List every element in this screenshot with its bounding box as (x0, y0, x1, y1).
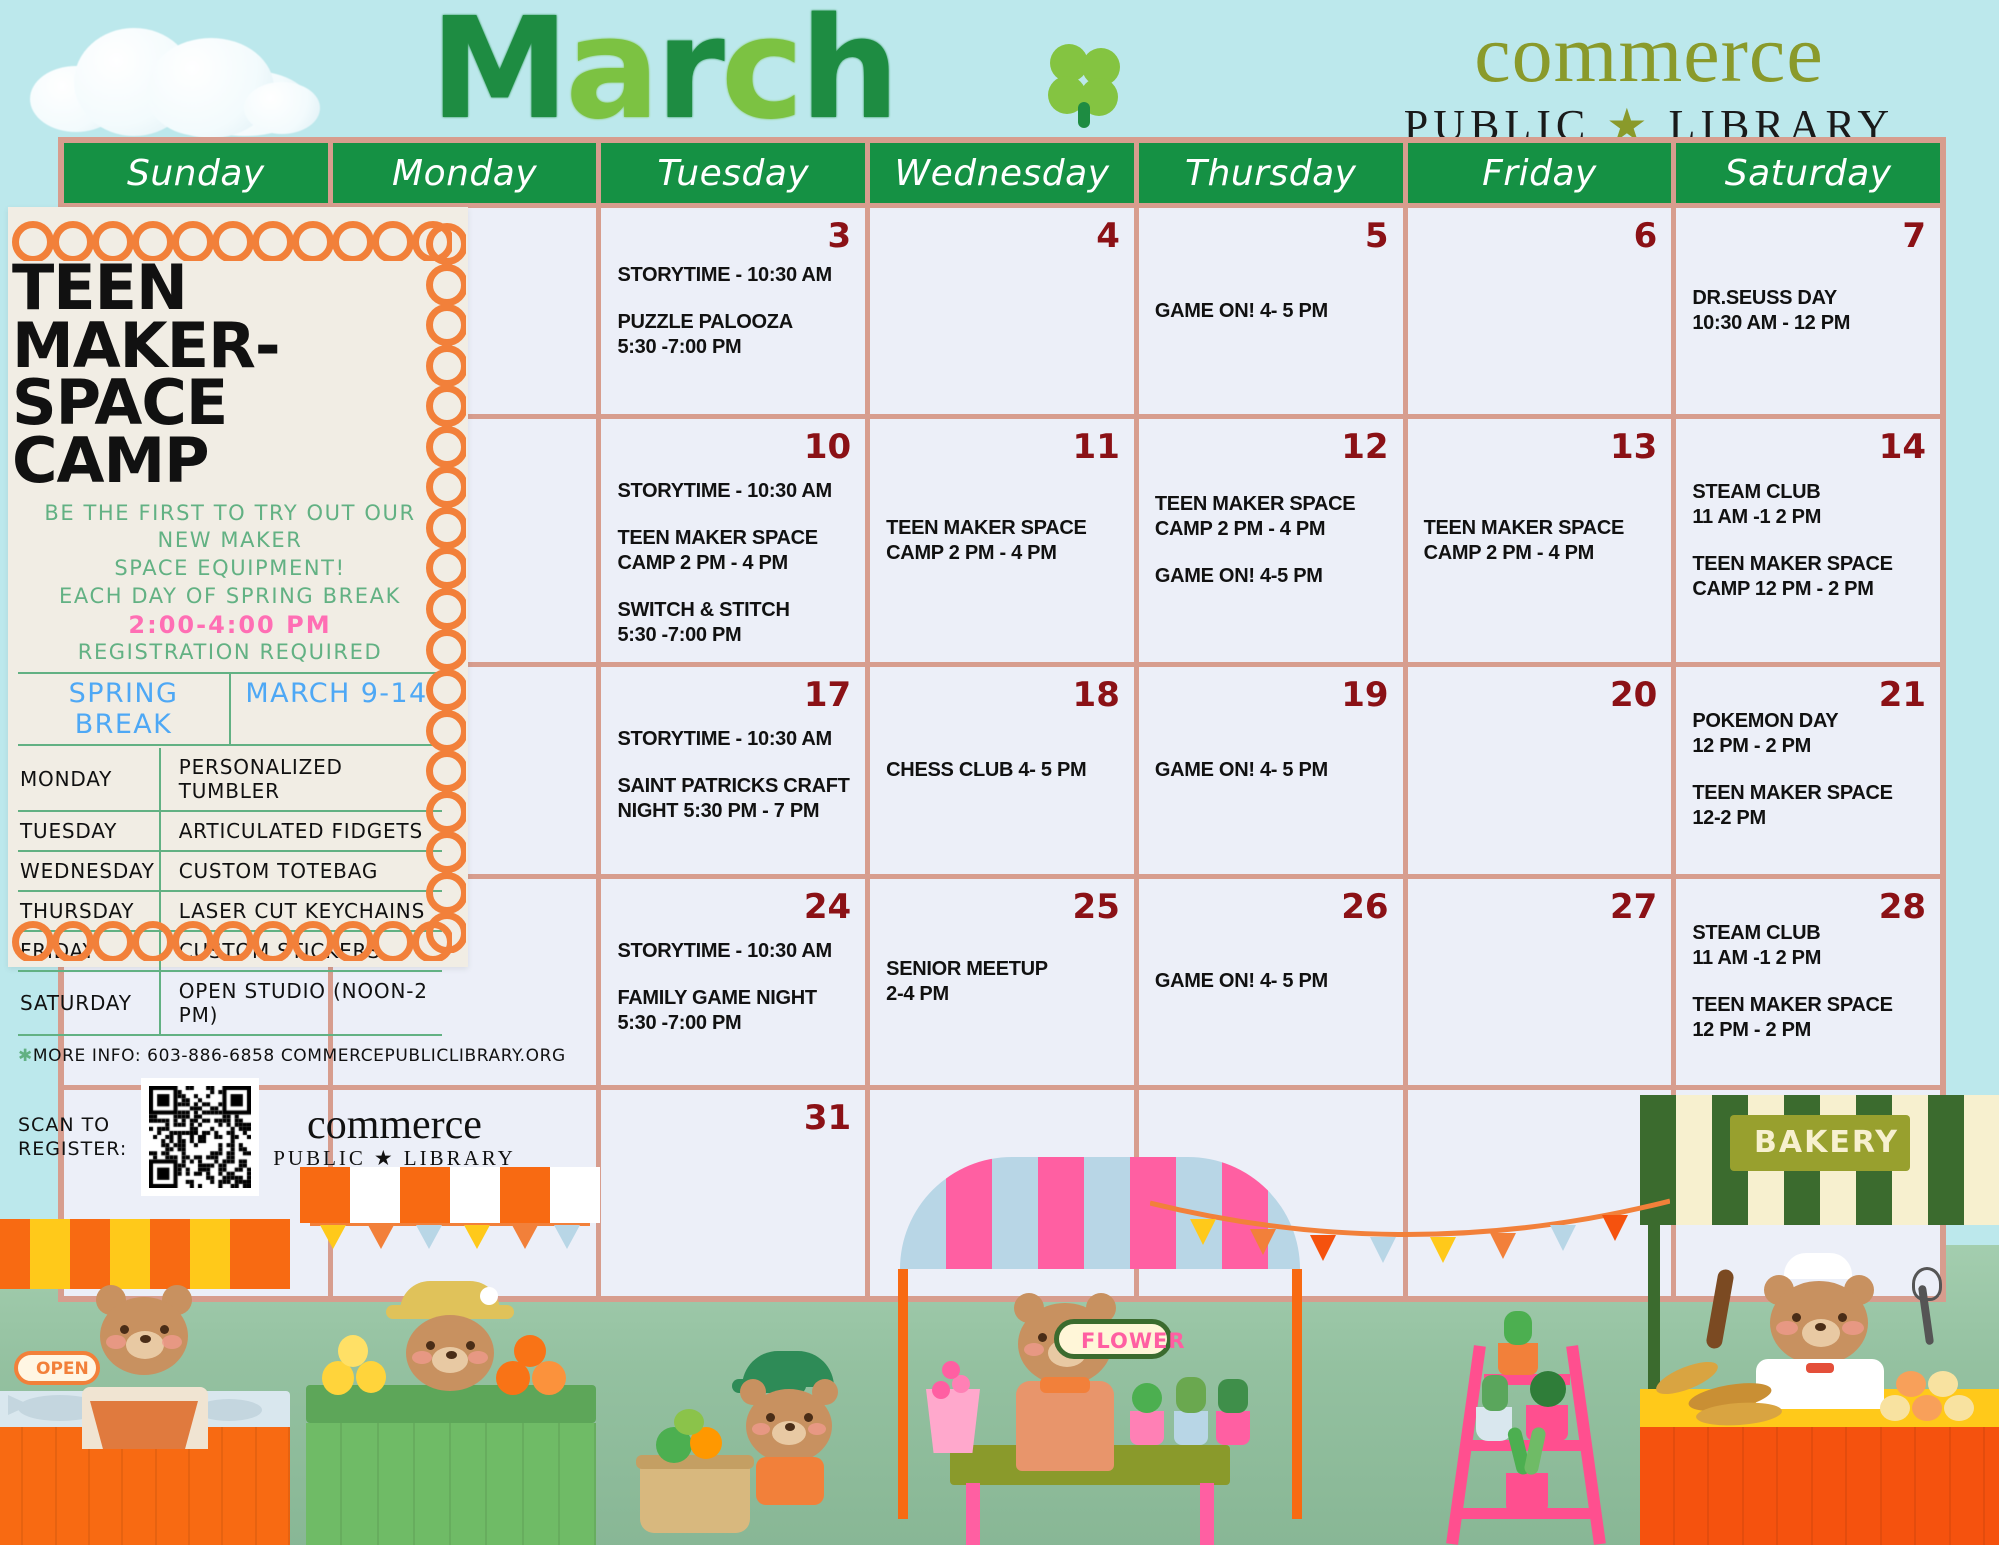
day-cell-11[interactable]: 11TEEN MAKER SPACECAMP 2 PM - 4 PM (870, 419, 1134, 662)
event-item[interactable]: STORYTIME - 10:30 AM (617, 727, 849, 752)
event-item[interactable]: PUZZLE PALOOZA5:30 -7:00 PM (617, 310, 849, 360)
event-item[interactable]: GAME ON! 4-5 PM (1155, 564, 1387, 589)
day-header-wednesday: Wednesday (870, 143, 1134, 203)
month-letter-4: c (721, 0, 800, 145)
day-cell-4[interactable]: 4 (870, 208, 1134, 414)
event-line: TEEN MAKER SPACE (1692, 993, 1924, 1018)
event-line: 5:30 -7:00 PM (617, 1011, 849, 1036)
month-letter-5: h (800, 0, 896, 145)
event-item[interactable]: TEEN MAKER SPACE12-2 PM (1692, 781, 1924, 831)
open-sign-label: OPEN (36, 1359, 89, 1379)
day-events: POKEMON DAY 12 PM - 2 PMTEEN MAKER SPACE… (1692, 709, 1924, 831)
day-header-thursday: Thursday (1139, 143, 1403, 203)
day-number: 13 (1610, 427, 1657, 467)
day-header-monday: Monday (333, 143, 597, 203)
day-number: 31 (804, 1098, 851, 1138)
schedule-activity: CUSTOM STICKERS (160, 931, 442, 971)
event-line: STORYTIME - 10:30 AM (617, 727, 849, 752)
day-number: 27 (1610, 887, 1657, 927)
day-cell-7[interactable]: 7DR.SEUSS DAY10:30 AM - 12 PM (1676, 208, 1940, 414)
event-line: 5:30 -7:00 PM (617, 623, 849, 648)
open-sign: OPEN (14, 1351, 100, 1385)
day-number: 10 (804, 427, 851, 467)
schedule-activity: PERSONALIZED TUMBLER (160, 748, 442, 811)
page-title: March (430, 0, 1050, 155)
day-events: STORYTIME - 10:30 AMFAMILY GAME NIGHT5:3… (617, 939, 849, 1036)
event-item[interactable]: CHESS CLUB 4- 5 PM (886, 758, 1118, 783)
event-line: GAME ON! 4-5 PM (1155, 564, 1387, 589)
poster-title: TEEN MAKER- SPACE CAMP (12, 259, 442, 490)
month-letter-2: a (565, 0, 655, 145)
event-line: CHESS CLUB 4- 5 PM (886, 758, 1118, 783)
schedule-day: WEDNESDAY (18, 851, 160, 891)
poster-title-line-2: SPACE CAMP (12, 374, 442, 489)
event-line: 5:30 -7:00 PM (617, 335, 849, 360)
qr-code-icon[interactable] (141, 1078, 259, 1196)
fruit-stall (300, 1295, 600, 1545)
poster-blurb-line-3: EACH DAY OF SPRING BREAK (18, 583, 442, 611)
event-line: TEEN MAKER SPACE (886, 516, 1118, 541)
event-line: NIGHT 5:30 PM - 7 PM (617, 799, 849, 824)
day-number: 18 (1073, 675, 1120, 715)
event-line: 10:30 AM - 12 PM (1692, 311, 1924, 336)
poster-registration-note: REGISTRATION REQUIRED (18, 639, 442, 667)
day-events: STEAM CLUB11 AM -1 2 PMTEEN MAKER SPACE1… (1692, 921, 1924, 1043)
event-line: SWITCH & STITCH (617, 598, 849, 623)
day-cell-27[interactable]: 27 (1408, 879, 1672, 1085)
poster-more-info-text: MORE INFO: 603-886-6858 COMMERCEPUBLICLI… (33, 1046, 566, 1066)
event-line: CAMP 2 PM - 4 PM (886, 541, 1118, 566)
day-cell-28[interactable]: 28STEAM CLUB11 AM -1 2 PMTEEN MAKER SPAC… (1676, 879, 1940, 1085)
event-item[interactable]: STORYTIME - 10:30 AM (617, 263, 849, 288)
event-line: TEEN MAKER SPACE (617, 526, 849, 551)
day-header-friday: Friday (1408, 143, 1672, 203)
day-number: 4 (1096, 216, 1120, 256)
event-line: 12 PM - 2 PM (1692, 1018, 1924, 1043)
bakery-counter (1640, 1427, 1999, 1545)
plant-ladder-shelf (1430, 1325, 1630, 1545)
bear-icon (1750, 1259, 1890, 1409)
day-cell-5[interactable]: 5GAME ON! 4- 5 PM (1139, 208, 1403, 414)
event-item[interactable]: TEEN MAKER SPACECAMP 12 PM - 2 PM (1692, 552, 1924, 602)
event-item[interactable]: STORYTIME - 10:30 AM (617, 479, 849, 504)
event-item[interactable]: GAME ON! 4- 5 PM (1155, 758, 1387, 783)
month-letter-1: M (430, 0, 565, 145)
schedule-day: TUESDAY (18, 811, 160, 851)
event-line: STEAM CLUB (1692, 480, 1924, 505)
spring-break-label: SPRING BREAK (18, 674, 231, 744)
bear-icon (90, 1285, 200, 1395)
day-number: 5 (1365, 216, 1389, 256)
event-line: PUZZLE PALOOZA (617, 310, 849, 335)
calendar-header-row: SundayMondayTuesdayWednesdayThursdayFrid… (64, 143, 1940, 203)
day-cell-3[interactable]: 3STORYTIME - 10:30 AMPUZZLE PALOOZA5:30 … (601, 208, 865, 414)
day-number: 3 (827, 216, 851, 256)
day-cell-20[interactable]: 20 (1408, 667, 1672, 873)
month-letter-3: r (656, 0, 721, 145)
event-line: SAINT PATRICKS CRAFT (617, 774, 849, 799)
poster-logo-subtitle: PUBLIC ★ LIBRARY (273, 1146, 516, 1171)
day-cell-24[interactable]: 24STORYTIME - 10:30 AMFAMILY GAME NIGHT5… (601, 879, 865, 1085)
event-item[interactable]: TEEN MAKER SPACECAMP 2 PM - 4 PM (886, 516, 1118, 566)
market-illustration: OPEN (0, 1215, 1999, 1545)
event-line: 12 PM - 2 PM (1692, 734, 1924, 759)
day-events: SENIOR MEETUP2-4 PM (886, 957, 1118, 1007)
potted-plant (1506, 1473, 1548, 1513)
day-events: DR.SEUSS DAY10:30 AM - 12 PM (1692, 286, 1924, 336)
poster-blurb-line-1: BE THE FIRST TO TRY OUT OUR NEW MAKER (18, 500, 442, 555)
day-cell-17[interactable]: 17STORYTIME - 10:30 AMSAINT PATRICKS CRA… (601, 667, 865, 873)
day-cell-6[interactable]: 6 (1408, 208, 1672, 414)
day-header-tuesday: Tuesday (601, 143, 865, 203)
day-header-sunday: Sunday (64, 143, 328, 203)
flower-sign: FLOWER (1054, 1319, 1172, 1359)
scan-label-line-2: REGISTER: (18, 1137, 127, 1162)
poster-library-logo: commerce PUBLIC ★ LIBRARY (273, 1104, 516, 1171)
poster-logo-public-label: PUBLIC (273, 1146, 366, 1171)
flower-sign-label: FLOWER (1081, 1329, 1186, 1353)
event-line: GAME ON! 4- 5 PM (1155, 969, 1387, 994)
schedule-activity: CUSTOM TOTEBAG (160, 851, 442, 891)
registration-row: SCAN TO REGISTER: commerce PUBLIC ★ LIBR… (18, 1078, 442, 1196)
event-item[interactable]: TEEN MAKER SPACE12 PM - 2 PM (1692, 993, 1924, 1043)
potted-plant (1476, 1407, 1512, 1441)
bear-icon (392, 1287, 508, 1403)
day-number: 25 (1073, 887, 1120, 927)
day-cell-13[interactable]: 13TEEN MAKER SPACECAMP 2 PM - 4 PM (1408, 419, 1672, 662)
schedule-row: TUESDAYARTICULATED FIDGETS (18, 811, 442, 851)
day-number: 21 (1879, 675, 1926, 715)
day-cell-21[interactable]: 21POKEMON DAY 12 PM - 2 PMTEEN MAKER SPA… (1676, 667, 1940, 873)
poster-more-info: ✱MORE INFO: 603-886-6858 COMMERCEPUBLICL… (18, 1046, 442, 1066)
event-item[interactable]: STORYTIME - 10:30 AM (617, 939, 849, 964)
bakery-stall: BAKERY (1640, 1245, 1999, 1545)
potted-plant (1216, 1411, 1250, 1445)
schedule-activity: OPEN STUDIO (NOON-2 PM) (160, 971, 442, 1035)
day-events: GAME ON! 4- 5 PM (1155, 758, 1387, 783)
poster-title-line-1: TEEN MAKER- (12, 259, 442, 374)
event-item[interactable]: SAINT PATRICKS CRAFTNIGHT 5:30 PM - 7 PM (617, 774, 849, 824)
fish-stall: OPEN (0, 1315, 290, 1545)
event-item[interactable]: SWITCH & STITCH5:30 -7:00 PM (617, 598, 849, 648)
event-item[interactable]: POKEMON DAY 12 PM - 2 PM (1692, 709, 1924, 759)
event-line: 11 AM -1 2 PM (1692, 505, 1924, 530)
event-line: 2-4 PM (886, 982, 1118, 1007)
day-number: 17 (804, 675, 851, 715)
event-line: STORYTIME - 10:30 AM (617, 479, 849, 504)
market-bunting (1150, 1197, 1670, 1237)
schedule-row: FRIDAYCUSTOM STICKERS (18, 931, 442, 971)
potted-plant (1498, 1343, 1538, 1375)
event-line: CAMP 2 PM - 4 PM (1155, 517, 1387, 542)
event-line: SENIOR MEETUP (886, 957, 1118, 982)
vegetable-stall (690, 1325, 910, 1545)
event-item[interactable]: DR.SEUSS DAY10:30 AM - 12 PM (1692, 286, 1924, 336)
day-number: 24 (804, 887, 851, 927)
schedule-row: MONDAYPERSONALIZED TUMBLER (18, 748, 442, 811)
schedule-activity: LASER CUT KEYCHAINS (160, 891, 442, 931)
poster-logo-library-label: LIBRARY (404, 1146, 516, 1171)
day-cell-19[interactable]: 19GAME ON! 4- 5 PM (1139, 667, 1403, 873)
day-cell-14[interactable]: 14STEAM CLUB11 AM -1 2 PMTEEN MAKER SPAC… (1676, 419, 1940, 662)
day-events: TEEN MAKER SPACECAMP 2 PM - 4 PM (1424, 516, 1656, 566)
fruit-stall-bunting (310, 1223, 590, 1253)
poster-star-icon: ★ (374, 1146, 396, 1171)
library-logo: commerce PUBLIC ★ LIBRARY (1359, 14, 1939, 151)
schedule-day: SATURDAY (18, 971, 160, 1035)
schedule-day: MONDAY (18, 748, 160, 811)
event-item[interactable]: STEAM CLUB11 AM -1 2 PM (1692, 480, 1924, 530)
day-events: GAME ON! 4- 5 PM (1155, 969, 1387, 994)
clover-icon (1048, 44, 1124, 120)
day-number: 28 (1879, 887, 1926, 927)
event-line: CAMP 2 PM - 4 PM (1424, 541, 1656, 566)
day-number: 14 (1879, 427, 1926, 467)
day-events: STEAM CLUB11 AM -1 2 PMTEEN MAKER SPACEC… (1692, 480, 1924, 602)
day-number: 7 (1902, 216, 1926, 256)
day-cell-18[interactable]: 18CHESS CLUB 4- 5 PM (870, 667, 1134, 873)
event-item[interactable]: TEEN MAKER SPACECAMP 2 PM - 4 PM (1155, 492, 1387, 542)
event-line: DR.SEUSS DAY (1692, 286, 1924, 311)
event-line: FAMILY GAME NIGHT (617, 986, 849, 1011)
day-events: STORYTIME - 10:30 AMSAINT PATRICKS CRAFT… (617, 727, 849, 824)
day-cell-26[interactable]: 26GAME ON! 4- 5 PM (1139, 879, 1403, 1085)
logo-wordmark: commerce (1359, 14, 1939, 94)
event-line: 11 AM -1 2 PM (1692, 946, 1924, 971)
event-item[interactable]: GAME ON! 4- 5 PM (1155, 299, 1387, 324)
day-events: GAME ON! 4- 5 PM (1155, 299, 1387, 324)
bunting-rope-icon (1150, 1197, 1670, 1243)
event-line: TEEN MAKER SPACE (1692, 552, 1924, 577)
asterisk-icon: ✱ (18, 1046, 33, 1066)
event-line: TEEN MAKER SPACE (1424, 516, 1656, 541)
scan-label-line-1: SCAN TO (18, 1113, 127, 1138)
schedule-activity: ARTICULATED FIDGETS (160, 811, 442, 851)
day-number: 19 (1341, 675, 1388, 715)
day-cell-12[interactable]: 12TEEN MAKER SPACECAMP 2 PM - 4 PMGAME O… (1139, 419, 1403, 662)
event-item[interactable]: FAMILY GAME NIGHT5:30 -7:00 PM (617, 986, 849, 1036)
poster-blurb-line-2: SPACE EQUIPMENT! (18, 555, 442, 583)
event-item[interactable]: GAME ON! 4- 5 PM (1155, 969, 1387, 994)
event-line: STORYTIME - 10:30 AM (617, 939, 849, 964)
bakery-sign-label: BAKERY (1754, 1125, 1899, 1160)
event-line: 12-2 PM (1692, 806, 1924, 831)
poster-logo-wordmark: commerce (273, 1104, 516, 1146)
schedule-day: THURSDAY (18, 891, 160, 931)
schedule-day: FRIDAY (18, 931, 160, 971)
day-events: CHESS CLUB 4- 5 PM (886, 758, 1118, 783)
potted-plant (1130, 1411, 1164, 1445)
day-header-saturday: Saturday (1676, 143, 1940, 203)
schedule-row: WEDNESDAYCUSTOM TOTEBAG (18, 851, 442, 891)
day-events: STORYTIME - 10:30 AMTEEN MAKER SPACECAMP… (617, 479, 849, 648)
event-line: GAME ON! 4- 5 PM (1155, 758, 1387, 783)
fish-stall-awning (0, 1219, 290, 1289)
day-cell-10[interactable]: 10STORYTIME - 10:30 AMTEEN MAKER SPACECA… (601, 419, 865, 662)
day-number: 26 (1341, 887, 1388, 927)
event-item[interactable]: STEAM CLUB11 AM -1 2 PM (1692, 921, 1924, 971)
camp-schedule-table: MONDAYPERSONALIZED TUMBLERTUESDAYARTICUL… (18, 748, 442, 1036)
spring-break-dates: MARCH 9-14 (231, 674, 442, 744)
schedule-row: THURSDAYLASER CUT KEYCHAINS (18, 891, 442, 931)
schedule-row: SATURDAYOPEN STUDIO (NOON-2 PM) (18, 971, 442, 1035)
cloud-icon (30, 20, 330, 130)
poster-time: 2:00-4:00 PM (18, 611, 442, 639)
spring-break-banner: SPRING BREAK MARCH 9-14 (18, 672, 442, 746)
potted-plant (1174, 1411, 1208, 1445)
event-line: TEEN MAKER SPACE (1692, 781, 1924, 806)
event-item[interactable]: TEEN MAKER SPACECAMP 2 PM - 4 PM (617, 526, 849, 576)
day-number: 12 (1341, 427, 1388, 467)
event-line: GAME ON! 4- 5 PM (1155, 299, 1387, 324)
day-events: TEEN MAKER SPACECAMP 2 PM - 4 PM (886, 516, 1118, 566)
day-number: 11 (1073, 427, 1120, 467)
day-events: TEEN MAKER SPACECAMP 2 PM - 4 PMGAME ON!… (1155, 492, 1387, 589)
day-number: 6 (1634, 216, 1658, 256)
event-line: CAMP 12 PM - 2 PM (1692, 577, 1924, 602)
fruit-stall-counter (306, 1423, 596, 1545)
teen-makerspace-camp-poster[interactable]: TEEN MAKER- SPACE CAMP BE THE FIRST TO T… (8, 207, 468, 967)
event-line: CAMP 2 PM - 4 PM (617, 551, 849, 576)
scan-to-register-label: SCAN TO REGISTER: (18, 1113, 127, 1162)
event-item[interactable]: TEEN MAKER SPACECAMP 2 PM - 4 PM (1424, 516, 1656, 566)
event-line: STORYTIME - 10:30 AM (617, 263, 849, 288)
day-events: STORYTIME - 10:30 AMPUZZLE PALOOZA5:30 -… (617, 263, 849, 360)
event-item[interactable]: SENIOR MEETUP2-4 PM (886, 957, 1118, 1007)
flower-stall: FLOWER (880, 1245, 1320, 1545)
day-number: 20 (1610, 675, 1657, 715)
bakery-sign: BAKERY (1730, 1115, 1910, 1171)
event-line: TEEN MAKER SPACE (1155, 492, 1387, 517)
day-cell-25[interactable]: 25SENIOR MEETUP2-4 PM (870, 879, 1134, 1085)
